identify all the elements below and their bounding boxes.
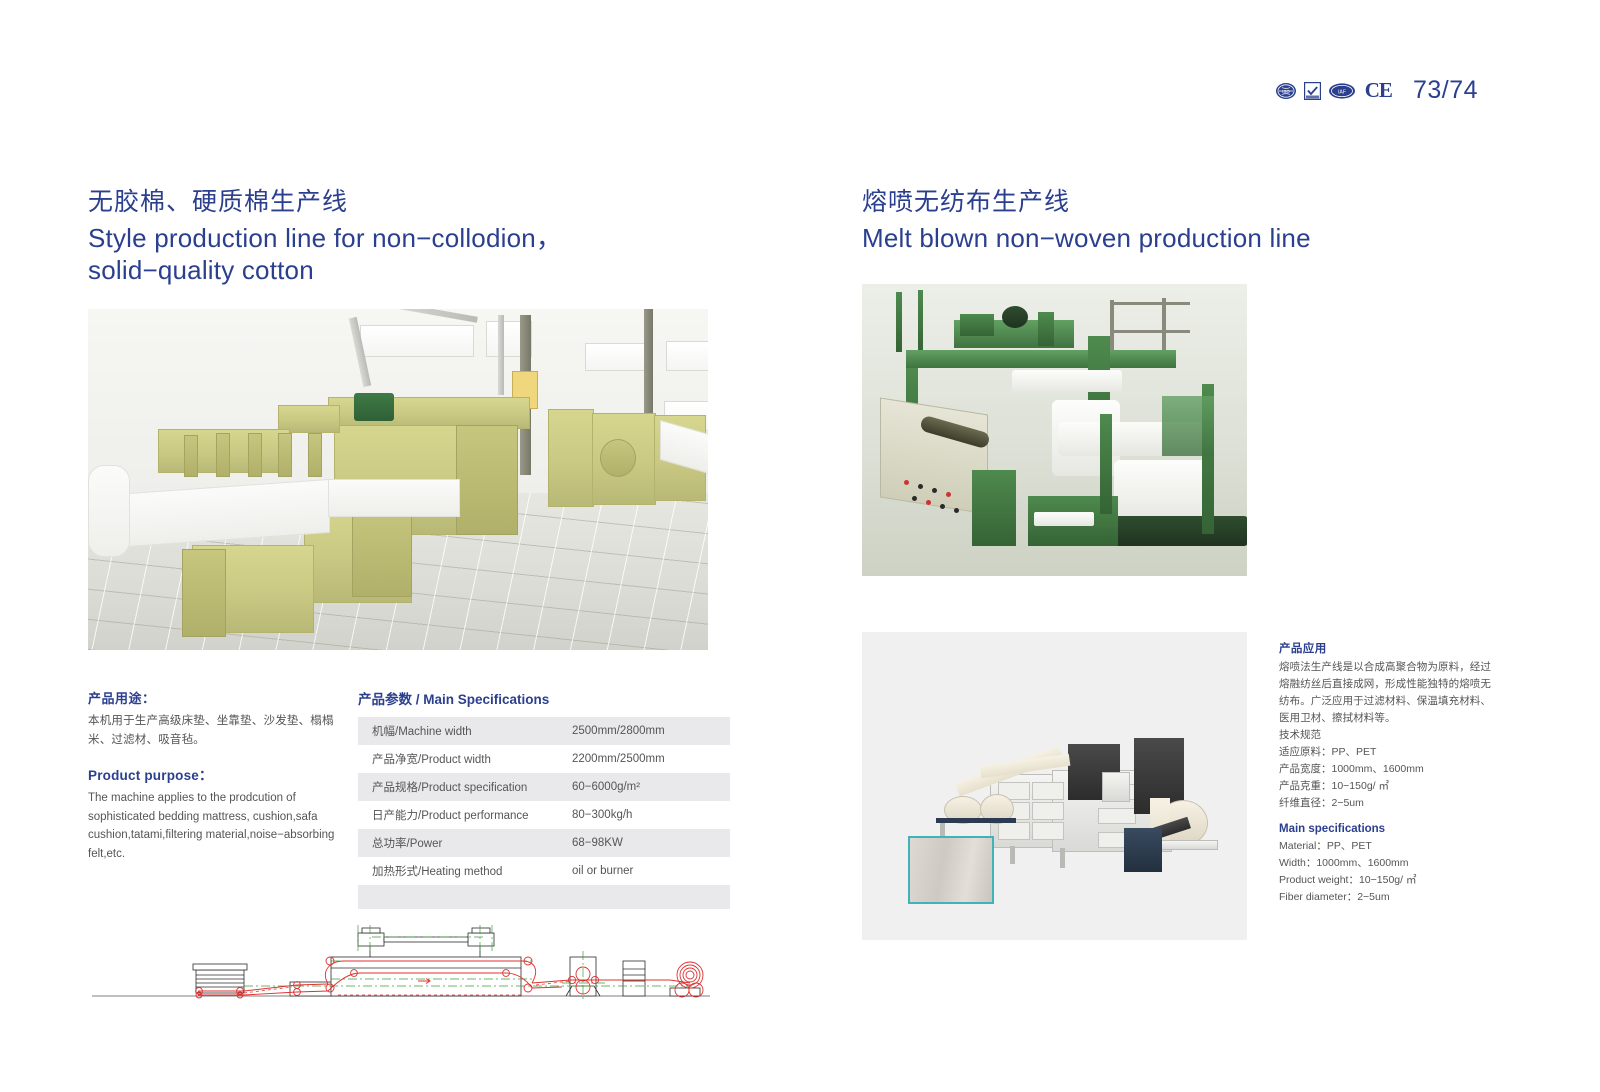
table-row: 总功率/Power 68−98KW	[358, 829, 730, 857]
product-purpose-block: 产品用途： 本机用于生产高级床垫、坐靠垫、沙发垫、榻榻米、过滤材、吸音毡。 Pr…	[88, 688, 338, 909]
table-row: 日产能力/Product performance 80−300kg/h	[358, 801, 730, 829]
process-schematic-diagram	[92, 895, 710, 1005]
purpose-body-chinese: 本机用于生产高级床垫、坐靠垫、沙发垫、榻榻米、过滤材、吸音毡。	[88, 712, 338, 750]
page-header: ISO IAF CE 73/74	[1275, 76, 1478, 105]
table-row: 产品规格/Product specification 60−6000g/m²	[358, 773, 730, 801]
tech-spec-weight-chinese: 产品克重：10−150g/ ㎡	[1279, 778, 1494, 795]
application-heading-chinese: 产品应用	[1279, 640, 1494, 656]
right-title-chinese: 熔喷无纺布生产线	[862, 186, 1502, 220]
specifications-table: 机幅/Machine width 2500mm/2800mm 产品净宽/Prod…	[358, 717, 730, 909]
left-title-english-line2: solid−quality cotton	[88, 254, 708, 287]
right-column: 熔喷无纺布生产线 Melt blown non−woven production…	[862, 186, 1502, 576]
spec-width-english: Width：1000mm、1600mm	[1279, 855, 1494, 872]
iaf-accreditation-logo: IAF	[1328, 82, 1356, 100]
spec-material-english: Material：PP、PET	[1279, 838, 1494, 855]
spec-key: 加热形式/Heating method	[358, 857, 562, 885]
spec-value: 68−98KW	[562, 829, 730, 857]
tech-spec-fiber-chinese: 纤维直径：2−5um	[1279, 795, 1494, 812]
fabric-swatch-inset	[908, 836, 994, 904]
page-number: 73/74	[1413, 76, 1478, 105]
spec-value: 80−300kg/h	[562, 801, 730, 829]
left-factory-photo	[88, 309, 708, 650]
spec-key: 日产能力/Product performance	[358, 801, 562, 829]
main-specifications-heading-english: Main specifications	[1279, 823, 1494, 835]
tech-spec-material-chinese: 适应原料：PP、PET	[1279, 744, 1494, 761]
spec-key: 产品规格/Product specification	[358, 773, 562, 801]
purpose-body-english: The machine applies to the prodcution of…	[88, 789, 338, 864]
table-row: 加热形式/Heating method oil or burner	[358, 857, 730, 885]
purpose-heading-chinese: 产品用途：	[88, 688, 338, 707]
spec-fiber-english: Fiber diameter：2−5um	[1279, 889, 1494, 906]
quality-check-logo	[1304, 82, 1321, 100]
spec-value: oil or burner	[562, 857, 730, 885]
ce-mark: CE	[1365, 80, 1392, 101]
svg-text:ISO: ISO	[1282, 89, 1290, 94]
left-title-chinese: 无胶棉、硬质棉生产线	[88, 186, 708, 220]
spec-key: 总功率/Power	[358, 829, 562, 857]
purpose-heading-english: Product purpose：	[88, 764, 338, 784]
tech-spec-heading-chinese: 技术规范	[1279, 727, 1494, 744]
left-title-english-line1: Style production line for non−collodion，	[88, 222, 708, 255]
specifications-block: 产品参数 / Main Specifications 机幅/Machine wi…	[358, 688, 706, 909]
catalog-page: ISO IAF CE 73/74 无胶棉、硬质棉生产线 Style produc…	[0, 0, 1600, 1092]
table-row: 产品净宽/Product width 2200mm/2500mm	[358, 745, 730, 773]
spec-key: 机幅/Machine width	[358, 717, 562, 745]
iso-certification-logo: ISO	[1275, 82, 1297, 100]
spec-weight-english: Product weight：10−150g/ ㎡	[1279, 872, 1494, 889]
right-title-english: Melt blown non−woven production line	[862, 222, 1502, 255]
spec-key: 产品净宽/Product width	[358, 745, 562, 773]
svg-text:IAF: IAF	[1338, 89, 1346, 95]
right-factory-photo	[862, 284, 1247, 576]
table-row: 机幅/Machine width 2500mm/2800mm	[358, 717, 730, 745]
left-lower-content: 产品用途： 本机用于生产高级床垫、坐靠垫、沙发垫、榻榻米、过滤材、吸音毡。 Pr…	[88, 688, 708, 909]
right-product-photo	[862, 632, 1247, 940]
spec-value: 2500mm/2800mm	[562, 717, 730, 745]
left-column: 无胶棉、硬质棉生产线 Style production line for non…	[88, 186, 708, 650]
spec-value: 60−6000g/m²	[562, 773, 730, 801]
specifications-title: 产品参数 / Main Specifications	[358, 688, 706, 708]
spec-value: 2200mm/2500mm	[562, 745, 730, 773]
application-body-chinese: 熔喷法生产线是以合成高聚合物为原料，经过熔融纺丝后直接成网，形成性能独特的熔喷无…	[1279, 659, 1494, 727]
right-text-block: 产品应用 熔喷法生产线是以合成高聚合物为原料，经过熔融纺丝后直接成网，形成性能独…	[1279, 640, 1494, 906]
tech-spec-width-chinese: 产品宽度：1000mm、1600mm	[1279, 761, 1494, 778]
